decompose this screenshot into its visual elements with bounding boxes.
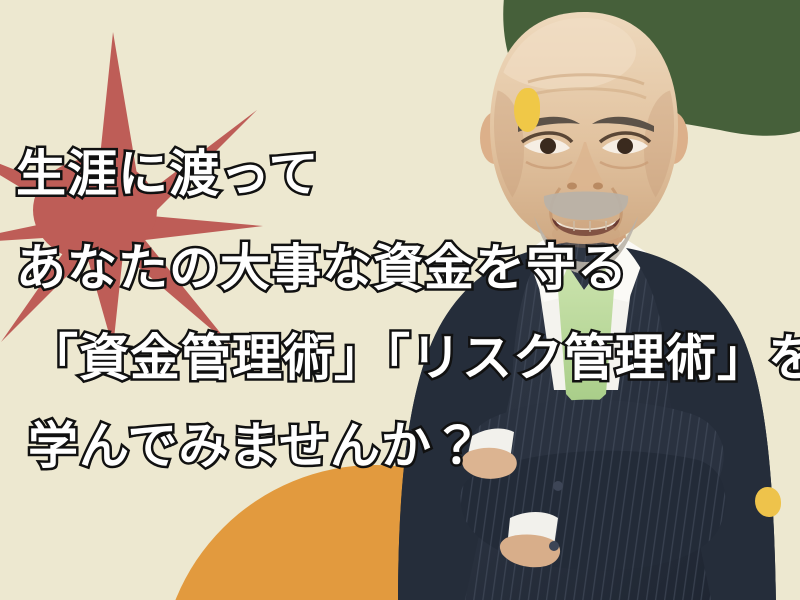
gold-dot-head-shape	[514, 88, 540, 132]
starburst-shape	[0, 30, 265, 350]
gold-dot-right-shape	[755, 487, 781, 517]
presenter-photo	[368, 0, 800, 600]
banner-canvas: 生涯に渡って あなたの大事な資金を守る 「資金管理術」「リスク管理術」を 学んで…	[0, 0, 800, 600]
